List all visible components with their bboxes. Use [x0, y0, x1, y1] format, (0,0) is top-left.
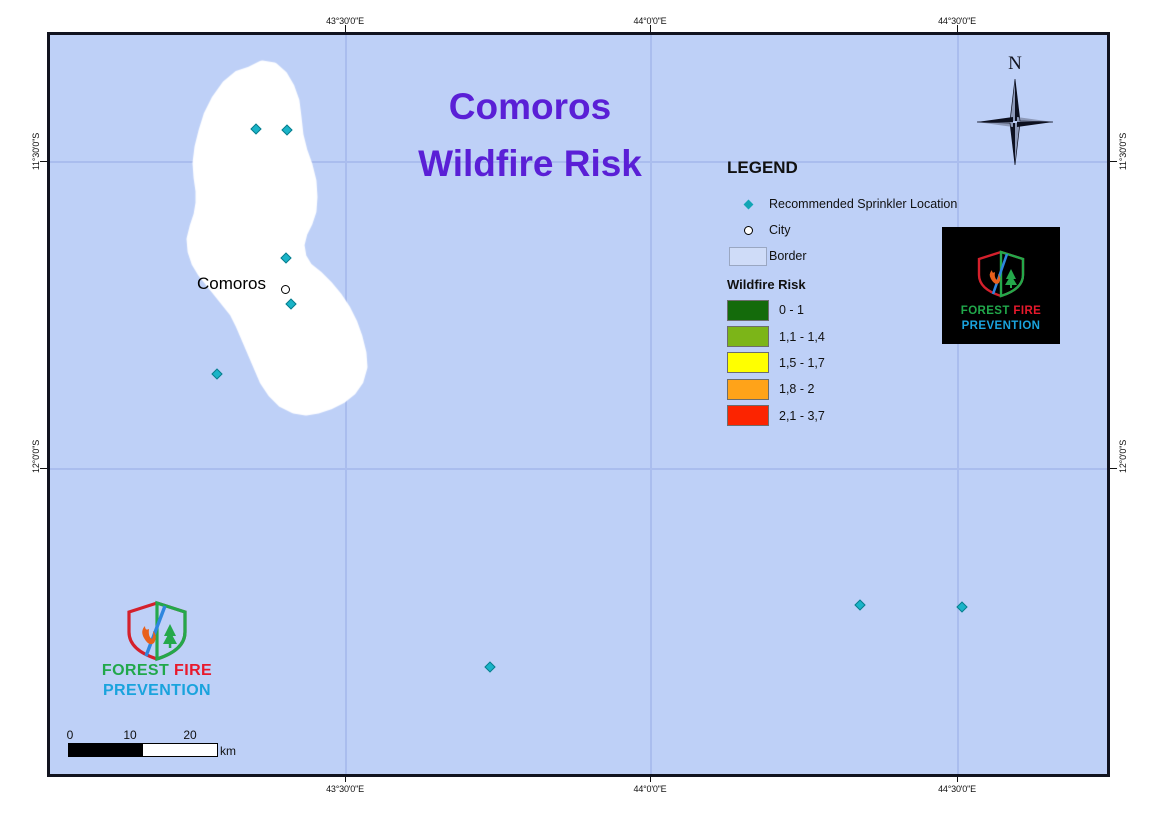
risk-swatch [727, 405, 769, 426]
logo-line-1: FOREST FIRE [942, 305, 1060, 317]
rectangle-icon [727, 247, 769, 266]
scale-bar-ticks: 0 10 20 [68, 728, 218, 743]
logo-word-prevention: PREVENTION [92, 682, 222, 700]
risk-swatch [727, 352, 769, 373]
north-arrow: N [975, 55, 1055, 165]
tick-top-3 [957, 25, 958, 32]
scale-tick-10: 10 [123, 728, 136, 742]
city-label-comoros: Comoros [197, 274, 266, 294]
legend-item-border[interactable]: Border [727, 243, 977, 269]
legend-item-label: Border [769, 249, 807, 263]
latitude-label-right-1: 11°30'0"S [1118, 133, 1128, 170]
tick-left-2 [40, 468, 47, 469]
diamond-icon [727, 201, 769, 208]
scale-bar-half-empty [143, 744, 217, 756]
tick-top-2 [650, 25, 651, 32]
circle-icon [727, 226, 769, 235]
scale-bar: 0 10 20 km [68, 728, 218, 757]
legend: LEGEND Recommended Sprinkler Location Ci… [727, 158, 977, 429]
legend-risk-heading: Wildfire Risk [727, 277, 977, 292]
tick-top-1 [345, 25, 346, 32]
risk-swatch [727, 379, 769, 400]
north-label: N [975, 53, 1055, 75]
legend-item-label: City [769, 223, 791, 237]
scale-bar-graphic [68, 743, 218, 757]
tick-left-1 [40, 161, 47, 162]
latitude-label-right-2: 12°0'0"S [1118, 440, 1128, 473]
compass-rose-icon [975, 77, 1055, 167]
scale-tick-0: 0 [67, 728, 74, 742]
legend-risk-class[interactable]: 1,5 - 1,7 [727, 350, 977, 376]
legend-risk-class[interactable]: 1,1 - 1,4 [727, 323, 977, 349]
legend-risk-class[interactable]: 0 - 1 [727, 297, 977, 323]
risk-class-label: 2,1 - 3,7 [779, 409, 825, 423]
logo-word-fire: FIRE [174, 662, 212, 679]
risk-class-label: 1,1 - 1,4 [779, 330, 825, 344]
latitude-label-left-1: 11°30'0"S [31, 133, 41, 170]
risk-class-label: 1,8 - 2 [779, 382, 814, 396]
legend-item-label: Recommended Sprinkler Location [769, 197, 957, 211]
tick-right-1 [1110, 161, 1117, 162]
scale-tick-20: 20 [183, 728, 196, 742]
logo-word-fire: FIRE [1013, 305, 1041, 317]
logo-word-forest: FOREST [102, 662, 169, 679]
longitude-label-bottom-3: 44°30'0"E [938, 784, 976, 794]
longitude-label-bottom-1: 43°30'0"E [326, 784, 364, 794]
risk-swatch [727, 300, 769, 321]
logo-word-prevention: PREVENTION [942, 320, 1060, 332]
logo-dark: FOREST FIRE PREVENTION [942, 227, 1060, 344]
legend-item-sprinkler[interactable]: Recommended Sprinkler Location [727, 191, 977, 217]
legend-item-city[interactable]: City [727, 217, 977, 243]
longitude-label-bottom-2: 44°0'0"E [634, 784, 667, 794]
shield-icon [122, 600, 192, 662]
scale-bar-half-filled [69, 744, 143, 756]
legend-risk-class[interactable]: 1,8 - 2 [727, 376, 977, 402]
risk-class-label: 0 - 1 [779, 303, 804, 317]
risk-class-label: 1,5 - 1,7 [779, 356, 825, 370]
legend-heading: LEGEND [727, 158, 977, 178]
map-page: 43°30'0"E 44°0'0"E 44°30'0"E 43°30'0"E 4… [0, 0, 1170, 827]
logo-line-1: FOREST FIRE [92, 662, 222, 680]
legend-risk-class[interactable]: 2,1 - 3,7 [727, 403, 977, 429]
tick-right-2 [1110, 468, 1117, 469]
scale-bar-unit: km [220, 744, 236, 758]
logo-light: FOREST FIRE PREVENTION [92, 600, 222, 705]
logo-word-forest: FOREST [961, 305, 1010, 317]
risk-swatch [727, 326, 769, 347]
shield-icon [973, 249, 1029, 299]
city-marker-comoros[interactable] [281, 285, 290, 294]
